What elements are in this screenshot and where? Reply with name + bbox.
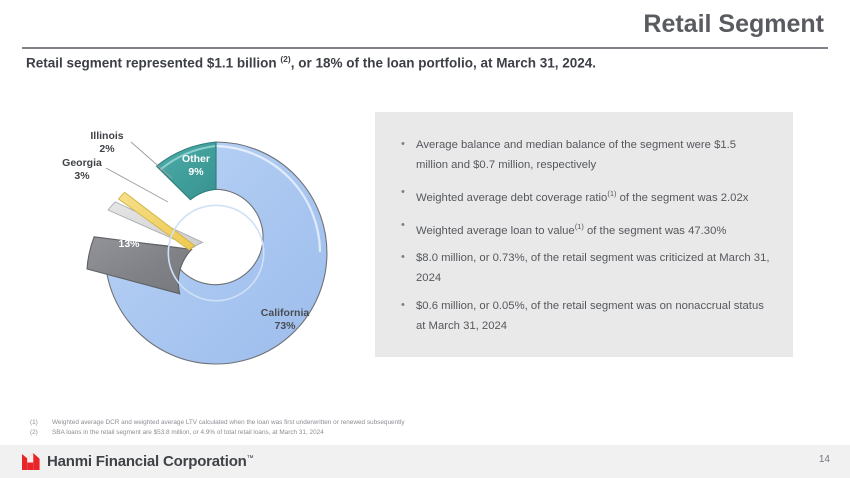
bullet-footnote-ref: (1) <box>607 189 616 198</box>
subtitle-main: Retail segment represented $1.1 billion <box>26 56 280 71</box>
footnote-marker: (2) <box>30 428 52 438</box>
slice-label-other-name: Other <box>182 153 210 165</box>
slice-label-georgia-value: 3% <box>74 170 90 182</box>
leader-line-georgia <box>106 168 168 202</box>
slice-label-texas-value: 13% <box>118 238 140 250</box>
footnotes: (1) Weighted average DCR and weighted av… <box>30 418 670 438</box>
subtitle-tail: , or 18% of the loan portfolio, at March… <box>291 56 596 71</box>
list-item: $8.0 million, or 0.73%, of the retail se… <box>399 251 771 286</box>
donut-chart-svg: Other 9% Texas 13% California 73% Illino… <box>0 100 370 390</box>
bullet-text-pre: $0.6 million, or 0.05%, of the retail se… <box>416 300 764 332</box>
pie-slice-other[interactable] <box>157 142 217 200</box>
company-logo: Hanmi Financial Corporation™ <box>22 451 253 472</box>
bullet-text-post: of the segment was 47.30% <box>584 224 727 236</box>
bullet-text-post: of the segment was 2.02x <box>617 192 749 204</box>
slice-label-illinois-name: Illinois <box>90 130 123 142</box>
slice-label-california-value: 73% <box>274 320 296 332</box>
list-item: $0.6 million, or 0.05%, of the retail se… <box>399 299 771 334</box>
footnote-marker: (1) <box>30 418 52 428</box>
company-name: Hanmi Financial Corporation™ <box>47 453 253 470</box>
footnote-text: Weighted average DCR and weighted averag… <box>52 418 405 428</box>
slice-label-other-value: 9% <box>188 166 204 178</box>
retail-segment-donut-chart: Other 9% Texas 13% California 73% Illino… <box>0 100 370 390</box>
title-divider <box>22 47 828 49</box>
trademark-symbol: ™ <box>247 455 254 462</box>
slice-label-illinois-value: 2% <box>99 143 115 155</box>
bullet-footnote-ref: (1) <box>575 222 584 231</box>
slice-label-texas-name: Texas <box>115 225 144 237</box>
footnote-row: (2) SBA loans in the retail segment are … <box>30 428 670 438</box>
segment-details-panel: Average balance and median balance of th… <box>375 112 793 357</box>
list-item: Weighted average loan to value(1) of the… <box>399 219 771 239</box>
list-item: Average balance and median balance of th… <box>399 138 771 173</box>
list-item: Weighted average debt coverage ratio(1) … <box>399 186 771 206</box>
bullet-text-pre: Weighted average debt coverage ratio <box>416 192 607 204</box>
page-number: 14 <box>819 454 830 465</box>
bullet-text-pre: Weighted average loan to value <box>416 224 575 236</box>
footnote-text: SBA loans in the retail segment are $53.… <box>52 428 324 438</box>
segment-bullet-list: Average balance and median balance of th… <box>399 138 771 334</box>
slice-label-georgia-name: Georgia <box>62 157 102 169</box>
footnote-row: (1) Weighted average DCR and weighted av… <box>30 418 670 428</box>
subtitle: Retail segment represented $1.1 billion … <box>26 54 596 71</box>
company-name-text: Hanmi Financial Corporation <box>47 453 247 470</box>
slice-label-california-name: California <box>261 307 310 319</box>
subtitle-footnote-ref: (2) <box>280 54 290 64</box>
hanmi-mountain-icon <box>22 453 41 470</box>
footer-bar: Hanmi Financial Corporation™ 14 <box>0 445 850 478</box>
bullet-text-pre: Average balance and median balance of th… <box>416 139 736 171</box>
bullet-text-pre: $8.0 million, or 0.73%, of the retail se… <box>416 252 770 284</box>
page-title: Retail Segment <box>643 10 824 39</box>
